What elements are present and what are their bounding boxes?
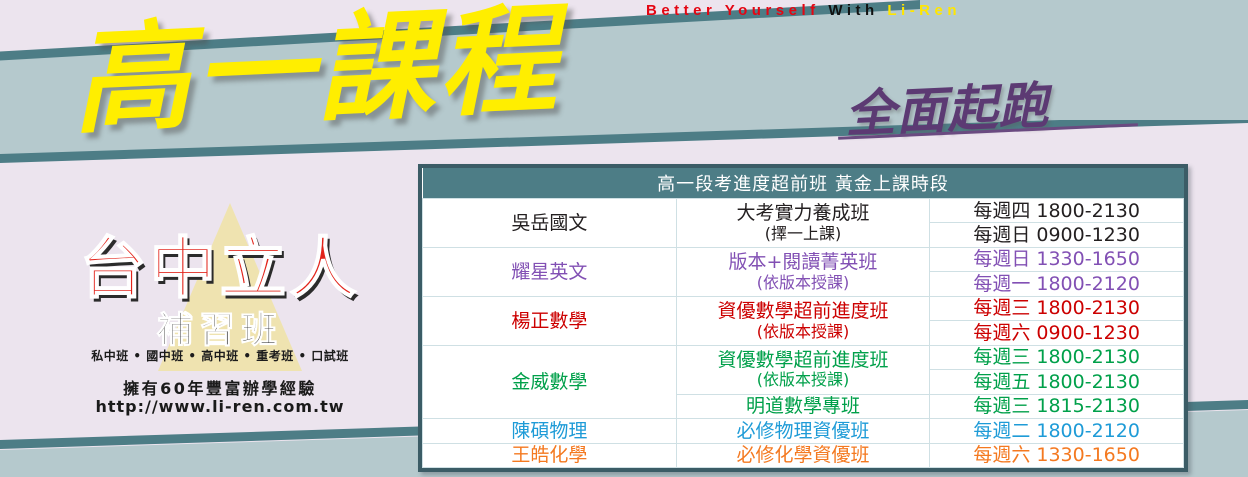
table-row: 陳碩物理必修物理資優班每週二 1800-2120 xyxy=(423,419,1184,443)
course-cell: 必修物理資優班 xyxy=(676,419,930,443)
course-cell: 版本+閱讀菁英班(依版本授課) xyxy=(676,247,930,296)
tagline-part-black: With xyxy=(828,2,878,19)
logo-brand-subtitle: 補習班 xyxy=(60,301,380,353)
course-cell: 資優數學超前進度班(依版本授課) xyxy=(676,345,930,394)
course-cell: 必修化學資優班 xyxy=(676,443,930,467)
schedule-table-body: 吳岳國文大考實力養成班(擇一上課)每週四 1800-2130每週日 0900-1… xyxy=(423,199,1184,468)
class-time-cell: 每週日 1330-1650 xyxy=(930,247,1184,271)
table-header-row: 高一段考進度超前班 黃金上課時段 xyxy=(423,168,1184,199)
page-title: 高一課程 xyxy=(69,0,562,143)
teacher-cell: 楊正數學 xyxy=(423,296,677,345)
course-note: (擇一上課) xyxy=(679,225,928,244)
course-name: 大考實力養成班 xyxy=(736,202,869,224)
course-cell: 大考實力養成班(擇一上課) xyxy=(676,199,930,248)
schedule-table-container: 高一段考進度超前班 黃金上課時段 吳岳國文大考實力養成班(擇一上課)每週四 18… xyxy=(418,164,1188,472)
teacher-cell: 陳碩物理 xyxy=(423,419,677,443)
table-row: 王皓化學必修化學資優班每週六 1330-1650 xyxy=(423,443,1184,467)
class-time-cell: 每週日 0900-1230 xyxy=(930,223,1184,247)
class-time-cell: 每週六 1330-1650 xyxy=(930,443,1184,467)
teacher-cell: 吳岳國文 xyxy=(423,199,677,248)
course-cell-secondary: 明道數學專班 xyxy=(676,394,930,418)
logo-class-list: 私中班 • 國中班 • 高中班 • 重考班 • 口試班 xyxy=(60,347,380,364)
table-row: 金威數學資優數學超前進度班(依版本授課)每週三 1800-2130 xyxy=(423,345,1184,369)
table-row: 耀星英文版本+閱讀菁英班(依版本授課)每週日 1330-1650 xyxy=(423,247,1184,271)
logo-website-url[interactable]: http://www.li-ren.com.tw xyxy=(60,397,380,416)
course-name: 必修化學資優班 xyxy=(736,444,869,466)
course-name: 資優數學超前進度班 xyxy=(717,300,888,322)
course-name: 版本+閱讀菁英班 xyxy=(729,251,878,273)
class-time-cell: 每週五 1800-2130 xyxy=(930,370,1184,394)
class-time-cell: 每週四 1800-2130 xyxy=(930,199,1184,223)
schedule-table-title: 高一段考進度超前班 黃金上課時段 xyxy=(423,168,1184,199)
class-time-cell: 每週二 1800-2120 xyxy=(930,419,1184,443)
class-time-cell: 每週三 1800-2130 xyxy=(930,296,1184,320)
teacher-cell: 王皓化學 xyxy=(423,443,677,467)
course-cell: 資優數學超前進度班(依版本授課) xyxy=(676,296,930,345)
poster-canvas: Better Yourself With Li-Ren 高一課程 全面起跑 台中… xyxy=(0,0,1248,477)
course-name: 必修物理資優班 xyxy=(736,420,869,442)
course-note: (依版本授課) xyxy=(679,323,928,342)
brand-logo: 台中立人 補習班 私中班 • 國中班 • 高中班 • 重考班 • 口試班 擁有6… xyxy=(60,205,380,410)
table-row: 吳岳國文大考實力養成班(擇一上課)每週四 1800-2130 xyxy=(423,199,1184,223)
class-time-cell: 每週六 0900-1230 xyxy=(930,321,1184,345)
course-name: 資優數學超前進度班 xyxy=(717,349,888,371)
schedule-table: 高一段考進度超前班 黃金上課時段 吳岳國文大考實力養成班(擇一上課)每週四 18… xyxy=(422,168,1184,468)
class-time-cell: 每週一 1800-2120 xyxy=(930,272,1184,296)
tagline-part-yellow: Li-Ren xyxy=(887,2,961,19)
class-time-cell: 每週三 1815-2130 xyxy=(930,394,1184,418)
schedule-table-head: 高一段考進度超前班 黃金上課時段 xyxy=(423,168,1184,199)
logo-brand-name: 台中立人 xyxy=(60,215,380,311)
course-note: (依版本授課) xyxy=(679,274,928,293)
logo-experience-text: 擁有60年豐富辦學經驗 xyxy=(60,375,380,399)
tagline-part-red: Better Yourself xyxy=(646,2,820,19)
tagline: Better Yourself With Li-Ren xyxy=(646,2,961,19)
teacher-cell: 金威數學 xyxy=(423,345,677,418)
teacher-cell: 耀星英文 xyxy=(423,247,677,296)
course-note: (依版本授課) xyxy=(679,371,928,390)
class-time-cell: 每週三 1800-2130 xyxy=(930,345,1184,369)
table-row: 楊正數學資優數學超前進度班(依版本授課)每週三 1800-2130 xyxy=(423,296,1184,320)
